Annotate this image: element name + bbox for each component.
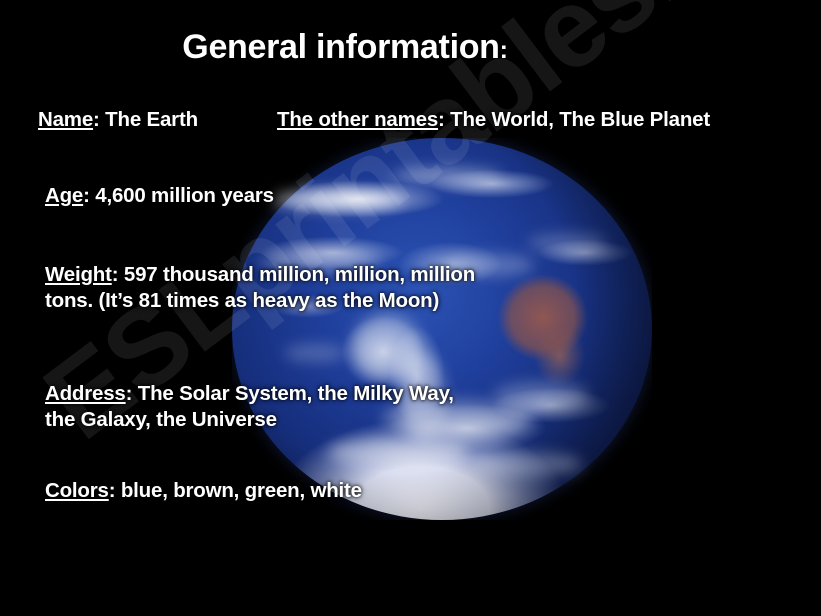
field-address-label: Address	[45, 382, 126, 405]
field-age-label: Age	[45, 184, 83, 207]
page-title-colon: :	[500, 36, 508, 64]
field-other-names: The other names: The World, The Blue Pla…	[277, 108, 710, 132]
earth-globe	[232, 138, 652, 520]
page-title-text: General information	[182, 28, 499, 66]
field-colors: Colors: blue, brown, green, white	[45, 479, 362, 503]
field-age-separator: :	[83, 184, 95, 207]
field-name: Name: The Earth	[38, 108, 198, 132]
earth-image	[232, 138, 652, 520]
field-colors-separator: :	[109, 479, 121, 502]
field-colors-value: blue, brown, green, white	[121, 479, 362, 502]
presentation-slide: ESLprintables.com General information: N…	[0, 0, 821, 616]
field-weight-label: Weight	[45, 263, 112, 286]
field-name-value: The Earth	[105, 108, 198, 131]
field-other-names-separator: :	[438, 108, 450, 131]
field-weight-separator: :	[112, 263, 124, 286]
field-address-separator: :	[126, 382, 138, 405]
page-title: General information:	[0, 28, 690, 67]
field-age-value: 4,600 million years	[95, 184, 274, 207]
field-weight: Weight: 597 thousand million, million, m…	[45, 262, 515, 314]
field-colors-label: Colors	[45, 479, 109, 502]
field-age: Age: 4,600 million years	[45, 184, 274, 208]
field-other-names-value: The World, The Blue Planet	[450, 108, 710, 131]
field-name-separator: :	[93, 108, 105, 131]
field-address: Address: The Solar System, the Milky Way…	[45, 381, 485, 433]
field-name-label: Name	[38, 108, 93, 131]
field-other-names-label: The other names	[277, 108, 438, 131]
